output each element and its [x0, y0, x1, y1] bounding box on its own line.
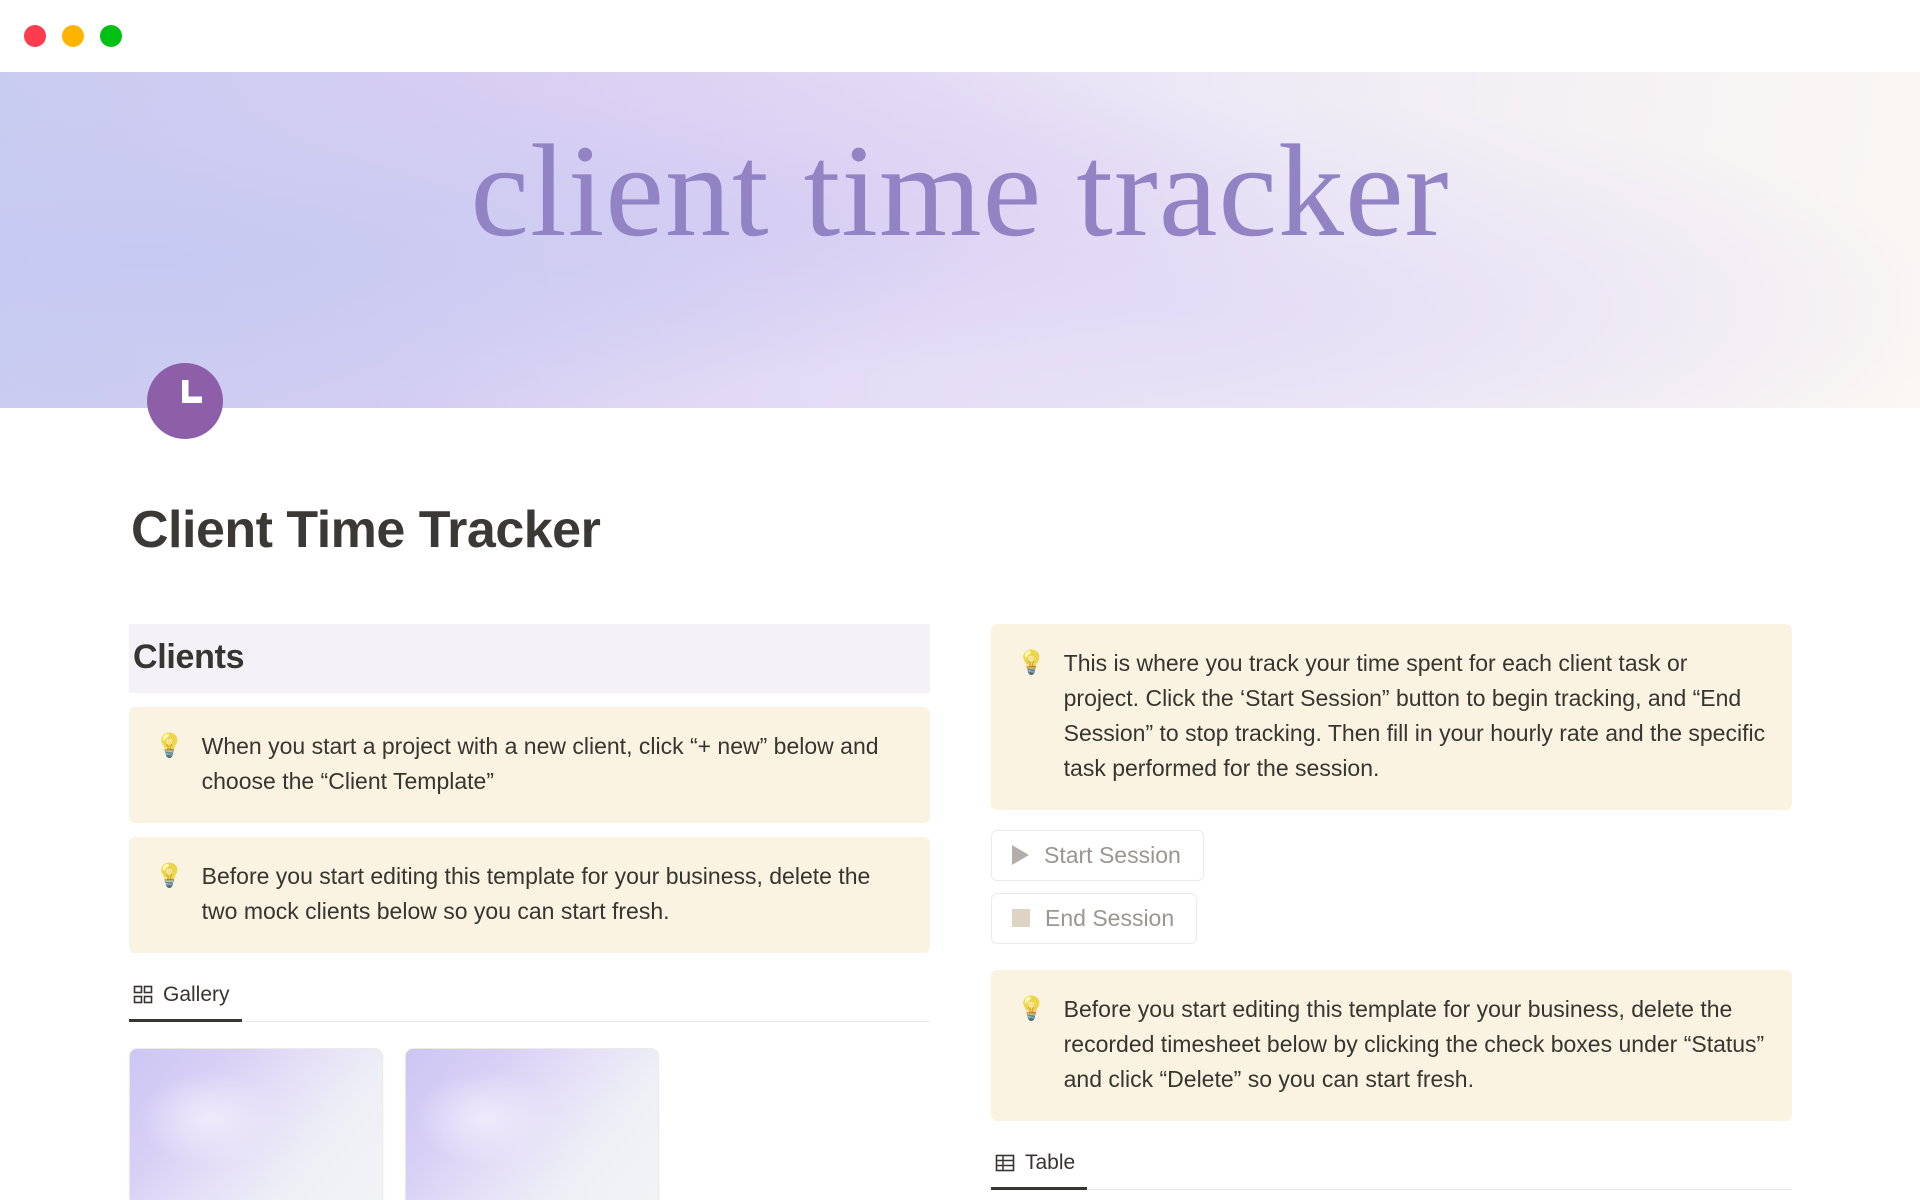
- lightbulb-icon: 💡: [1017, 646, 1046, 679]
- grid-icon: [133, 985, 153, 1005]
- end-session-button[interactable]: End Session: [991, 893, 1197, 944]
- session-buttons: Start Session End Session: [991, 830, 1792, 956]
- left-column: Clients 💡 When you start a project with …: [129, 624, 930, 1200]
- clients-view-tabs: Gallery: [129, 979, 930, 1022]
- start-session-button[interactable]: Start Session: [991, 830, 1204, 881]
- table-icon: [995, 1153, 1015, 1173]
- start-session-label: Start Session: [1044, 842, 1181, 869]
- timesheet-view-tabs: Table: [991, 1147, 1792, 1190]
- play-icon: [1012, 845, 1029, 865]
- lightbulb-icon: 💡: [155, 729, 184, 762]
- tab-gallery[interactable]: Gallery: [129, 979, 242, 1022]
- page-cover-banner[interactable]: client time tracker: [0, 72, 1920, 408]
- gallery-card-thumbnail: [406, 1049, 658, 1200]
- tab-label: Table: [1025, 1151, 1075, 1175]
- tab-table[interactable]: Table: [991, 1147, 1087, 1190]
- end-session-label: End Session: [1045, 905, 1174, 932]
- gallery-card[interactable]: 😁 Mock Client 2: [405, 1048, 659, 1200]
- stop-icon: [1012, 909, 1030, 927]
- callout-text: This is where you track your time spent …: [1064, 646, 1766, 786]
- callout-time-tracking-info: 💡 This is where you track your time spen…: [991, 624, 1792, 810]
- gallery-card[interactable]: 😁 Mock Client 1: [129, 1048, 383, 1200]
- right-column: 💡 This is where you track your time spen…: [991, 624, 1792, 1200]
- callout-new-client: 💡 When you start a project with a new cl…: [129, 707, 930, 823]
- close-window-button[interactable]: [24, 25, 46, 47]
- callout-text: When you start a project with a new clie…: [202, 729, 904, 799]
- minimize-window-button[interactable]: [62, 25, 84, 47]
- gallery-card-thumbnail: [130, 1049, 382, 1200]
- page-content: Client Time Tracker Clients 💡 When you s…: [0, 408, 1920, 1200]
- clients-gallery: 😁 Mock Client 1 😁 Mock Client 2: [129, 1048, 930, 1200]
- clock-icon[interactable]: [147, 363, 223, 439]
- lightbulb-icon: 💡: [1017, 992, 1046, 1025]
- lightbulb-icon: 💡: [155, 859, 184, 892]
- tab-label: Gallery: [163, 983, 230, 1007]
- traffic-lights: [24, 25, 122, 47]
- callout-text: Before you start editing this template f…: [202, 859, 904, 929]
- banner-title: client time tracker: [0, 120, 1920, 263]
- callout-delete-timesheet: 💡 Before you start editing this template…: [991, 970, 1792, 1121]
- page-title: Client Time Tracker: [131, 500, 600, 560]
- window-title-bar: [0, 0, 1920, 72]
- maximize-window-button[interactable]: [100, 25, 122, 47]
- callout-text: Before you start editing this template f…: [1064, 992, 1766, 1097]
- clients-section-heading: Clients: [129, 624, 930, 693]
- callout-delete-mock-clients: 💡 Before you start editing this template…: [129, 837, 930, 953]
